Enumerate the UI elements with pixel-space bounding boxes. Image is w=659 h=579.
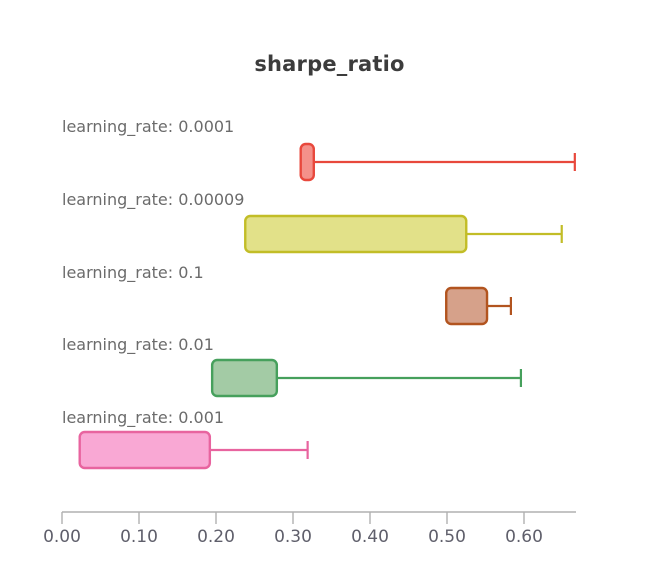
- box: [245, 216, 466, 252]
- box-plot-row: [245, 216, 561, 252]
- x-tick-label-6: 0.60: [505, 527, 543, 547]
- x-axis: [0, 0, 659, 579]
- group-label-0: learning_rate: 0.0001: [62, 117, 234, 136]
- plot-area: learning_rate: 0.0001 learning_rate: 0.0…: [0, 0, 659, 579]
- group-label-1: learning_rate: 0.00009: [62, 190, 244, 209]
- x-tick-label-2: 0.20: [197, 527, 235, 547]
- box-plot-graphics: [0, 0, 659, 579]
- box: [212, 360, 277, 396]
- box-plot-row: [301, 144, 575, 180]
- box-plot-row: [80, 432, 308, 468]
- box-plot-row: [212, 360, 521, 396]
- x-tick-label-4: 0.40: [351, 527, 389, 547]
- box-plot-row: [446, 288, 511, 324]
- x-tick-label-5: 0.50: [428, 527, 466, 547]
- x-tick-label-0: 0.00: [43, 527, 81, 547]
- group-label-4: learning_rate: 0.001: [62, 408, 224, 427]
- box: [446, 288, 487, 324]
- box: [301, 144, 314, 180]
- box: [80, 432, 210, 468]
- chart-container: sharpe_ratio learning_rate: 0.0001 learn…: [0, 0, 659, 579]
- x-tick-label-3: 0.30: [274, 527, 312, 547]
- group-label-3: learning_rate: 0.01: [62, 335, 214, 354]
- group-label-2: learning_rate: 0.1: [62, 263, 204, 282]
- x-tick-label-1: 0.10: [120, 527, 158, 547]
